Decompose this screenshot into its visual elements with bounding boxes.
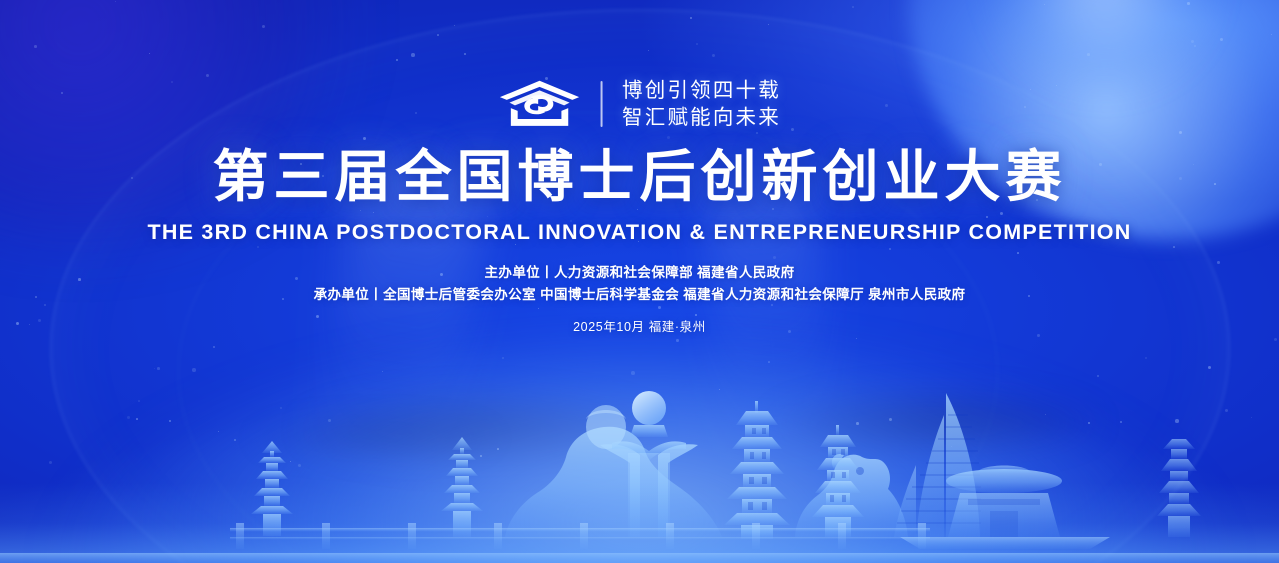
main-title-english: THE 3RD CHINA POSTDOCTORAL INNOVATION & … [147, 220, 1131, 245]
date-and-location: 2025年10月 福建·泉州 [573, 316, 706, 335]
brand-lockup: 博创引领四十载 智汇赋能向未来 [498, 78, 781, 130]
slogan-block: 博创引领四十载 智汇赋能向未来 [622, 79, 781, 130]
host-organizations: 主办单位丨人力资源和社会保障部 福建省人民政府 [485, 261, 795, 281]
slogan-line-1: 博创引领四十载 [622, 79, 781, 103]
poster-canvas: 博创引领四十载 智汇赋能向未来 第三届全国博士后创新创业大赛 THE 3RD C… [0, 0, 1279, 563]
main-title-chinese: 第三届全国博士后创新创业大赛 [213, 148, 1067, 207]
slogan-line-2: 智汇赋能向未来 [622, 106, 781, 130]
cohost-organizations: 承办单位丨全国博士后管委会办公室 中国博士后科学基金会 福建省人力资源和社会保障… [314, 283, 966, 303]
poster-content: 博创引领四十载 智汇赋能向未来 第三届全国博士后创新创业大赛 THE 3RD C… [0, 0, 1279, 563]
logo-divider [600, 81, 602, 127]
graduation-cap-logo-icon [498, 78, 580, 130]
